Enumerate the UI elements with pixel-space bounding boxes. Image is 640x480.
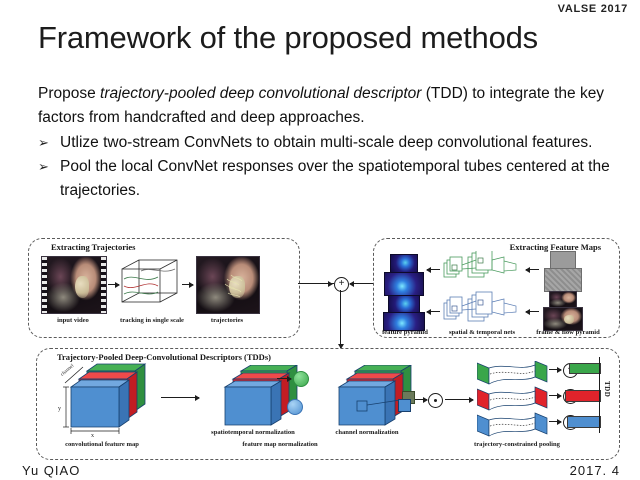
- footer-date: 2017. 4: [570, 463, 620, 478]
- frame-image-small: [549, 291, 577, 308]
- panel-extracting-trajectories: Extracting Trajectories input video: [28, 238, 300, 338]
- framework-figure: Extracting Trajectories input video: [28, 236, 618, 462]
- flow-image-large: [544, 268, 582, 292]
- flow-image-small: [550, 251, 576, 269]
- panel-extracting-feature-maps: Extracting Feature Maps feature pyramid: [373, 238, 620, 338]
- arrow-junction-to-tdd-panel: [340, 290, 341, 348]
- tdd-bar-red: [565, 390, 601, 402]
- arrow-to-normalization: [161, 397, 199, 398]
- panel-trajectories-title: Extracting Trajectories: [51, 242, 135, 252]
- body-text-block: Propose trajectory-pooled deep convoluti…: [38, 82, 618, 203]
- caption-spatiotemporal-normalization: spatiotemporal normalization: [193, 429, 313, 436]
- caption-feature-pyramid: feature pyramid: [376, 329, 434, 336]
- bullet-item-1: ➢ Utlize two-stream ConvNets to obtain m…: [38, 131, 618, 155]
- arrow-video-to-tracking: [108, 284, 119, 285]
- tdd-bar-blue: [567, 416, 601, 428]
- bullet-marker-icon: ➢: [38, 131, 60, 155]
- tracking-wireframe-svg: [121, 259, 179, 311]
- bullet-text-1: Utlize two-stream ConvNets to obtain mul…: [60, 131, 618, 155]
- arrow-to-green-sphere: [277, 378, 291, 379]
- slide-root: VALSE 2017 Framework of the proposed met…: [0, 0, 640, 480]
- caption-conv-feature-map: convolutional feature map: [47, 441, 157, 448]
- normalized-green-sphere: [293, 371, 309, 387]
- caption-input-video: input video: [35, 317, 111, 324]
- caption-trajectory-constrained-pooling: trajectory-constrained pooling: [447, 441, 587, 448]
- filmstrip-right: [101, 257, 106, 313]
- footer-author: Yu QIAO: [22, 463, 80, 478]
- feature-map-1: [390, 254, 418, 273]
- tracking-volume-wireframe: [121, 259, 179, 311]
- sampled-cube-blue: [398, 399, 411, 412]
- caption-feature-map-normalization: feature map normalization: [215, 441, 345, 448]
- lead-paragraph: Propose trajectory-pooled deep convoluti…: [38, 82, 618, 130]
- tdd-output-label: TDD: [603, 381, 611, 397]
- arrow-nets-to-feature-pyramid-bottom: [427, 311, 440, 312]
- page-title: Framework of the proposed methods: [38, 20, 538, 56]
- trajectories-thumbnail: [196, 256, 260, 314]
- emphasis-text: trajectory-pooled deep convolutional des…: [100, 85, 421, 102]
- sum-operator-top: +: [334, 277, 349, 292]
- feature-map-2: [384, 272, 424, 296]
- bullet-item-2: ➢ Pool the local ConvNet responses over …: [38, 155, 618, 203]
- arrow-frames-to-temporal-net: [526, 311, 539, 312]
- temporal-convnet-diagram: [442, 291, 522, 331]
- caption-channel-normalization: channel normalization: [315, 429, 419, 436]
- caption-trajectories: trajectories: [192, 317, 262, 324]
- caption-frame-flow-pyramid: frame & flow pyramid: [532, 329, 604, 336]
- product-operator-icon: [428, 393, 443, 408]
- tdd-axis-line: [599, 357, 600, 433]
- video-frame-image: [47, 257, 101, 313]
- lead-text: Propose: [38, 85, 100, 102]
- conv-feature-map-cubes: x y channel: [51, 363, 149, 437]
- normalized-blue-sphere: [287, 399, 303, 415]
- panel-tdd-title: Trajectory-Pooled Deep-Convolutional Des…: [57, 352, 271, 362]
- svg-text:x: x: [91, 433, 94, 437]
- arrow-cube-to-product: [415, 399, 427, 400]
- arrow-product-to-pooling: [445, 399, 473, 400]
- arrow-vol-blue-to-sum: [549, 421, 561, 422]
- trajectory-pooling-volumes: [477, 361, 555, 437]
- caption-spatial-temporal-nets: spatial & temporal nets: [440, 329, 524, 336]
- channel-normalization-cubes: [321, 365, 413, 431]
- panel-tdd: Trajectory-Pooled Deep-Convolutional Des…: [36, 348, 620, 460]
- arrow-frames-to-spatial-net: [526, 269, 539, 270]
- spatiotemporal-normalization-cubes: [207, 365, 299, 431]
- conference-label: VALSE 2017: [558, 3, 628, 15]
- arrow-into-junction-right: [350, 283, 362, 284]
- bullet-marker-icon: ➢: [38, 155, 60, 203]
- frame-image-large: [543, 307, 583, 331]
- spatial-convnet-diagram: [442, 251, 522, 289]
- arrow-vol-red-to-sum: [549, 395, 561, 396]
- input-video-thumbnail: [41, 256, 107, 314]
- bullet-text-2: Pool the local ConvNet responses over th…: [60, 155, 618, 203]
- svg-text:y: y: [58, 406, 61, 412]
- arrow-into-junction-left: [320, 283, 332, 284]
- arrow-nets-to-feature-pyramid-top: [427, 269, 440, 270]
- caption-tracking-single-scale: tracking in single scale: [112, 317, 192, 324]
- arrow-vol-green-to-sum: [549, 369, 561, 370]
- trajectory-lines-svg: [197, 257, 259, 313]
- arrow-tracking-to-trajectories: [182, 284, 193, 285]
- tdd-bar-green: [569, 363, 601, 374]
- trajectory-overlay-image: [197, 257, 259, 313]
